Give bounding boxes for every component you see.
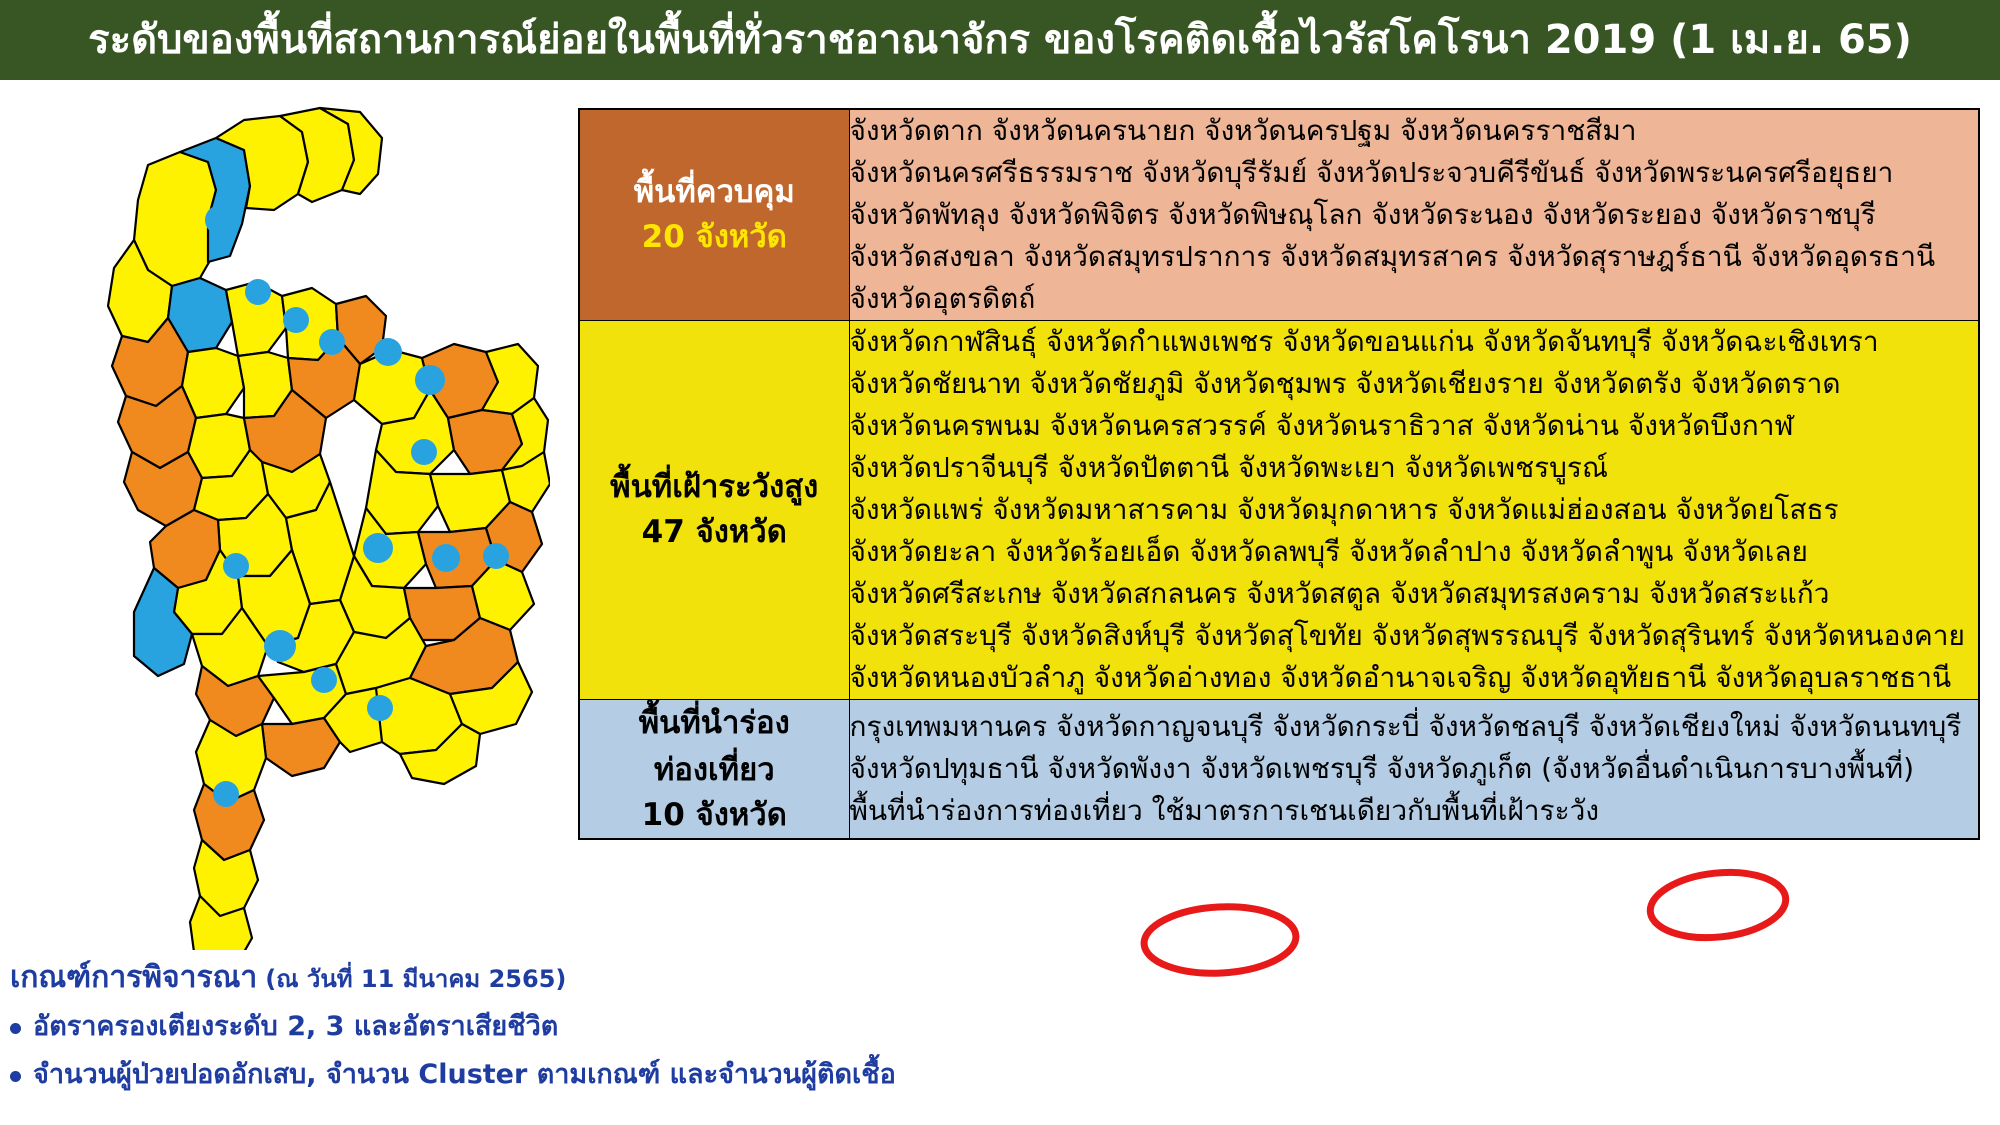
zone-count: 10 จังหวัด — [580, 793, 849, 838]
tourism-marker — [432, 544, 460, 572]
zone-label-cell-surveillance: พื้นที่เฝ้าระวังสูง 47 จังหวัด — [579, 321, 849, 700]
criteria-heading: เกณฑ์การพิจารณา (ณ วันที่ 11 มีนาคม 2565… — [10, 960, 970, 996]
province-line: จังหวัดศรีสะเกษ จังหวัดสกลนคร จังหวัดสตู… — [850, 573, 1979, 615]
criteria-item-label: อัตราครองเตียงระดับ 2, 3 และอัตราเสียชีว… — [33, 1010, 558, 1044]
criteria-block: เกณฑ์การพิจารณา (ณ วันที่ 11 มีนาคม 2565… — [10, 960, 970, 1106]
province-line: จังหวัดสงขลา จังหวัดสมุทรปราการ จังหวัดส… — [850, 236, 1979, 278]
criteria-heading-main: เกณฑ์การพิจารณา — [10, 960, 257, 996]
province-line: พื้นที่นำร่องการท่องเที่ยว ใช้มาตรการเชน… — [850, 790, 1979, 832]
province-line: จังหวัดอุตรดิตถ์ — [850, 278, 1979, 320]
zone-count: 20 จังหวัด — [580, 215, 849, 260]
zone-title-line1: พื้นที่นำร่อง — [580, 700, 849, 747]
tourism-marker — [367, 695, 393, 721]
bullet-icon — [10, 1071, 21, 1082]
province-line: จังหวัดปราจีนบุรี จังหวัดปัตตานี จังหวัด… — [850, 447, 1979, 489]
zone-province-list-tourism: กรุงเทพมหานคร จังหวัดกาญจนบุรี จังหวัดกร… — [849, 700, 1979, 839]
map-svg — [30, 90, 550, 950]
zone-label-cell-tourism: พื้นที่นำร่อง ท่องเที่ยว 10 จังหวัด — [579, 700, 849, 839]
tourism-marker — [311, 667, 337, 693]
phetchaburi-highlight-ellipse — [1142, 903, 1297, 977]
province-line: จังหวัดพัทลุง จังหวัดพิจิตร จังหวัดพิษณุ… — [850, 194, 1979, 236]
province-shape — [262, 718, 340, 776]
page-title: ระดับของพื้นที่สถานการณ์ย่อยในพื้นที่ทั่… — [88, 20, 1912, 60]
tourism-marker — [264, 630, 296, 662]
province-line: จังหวัดนครพนม จังหวัดนครสวรรค์ จังหวัดนร… — [850, 405, 1979, 447]
bullet-icon — [10, 1023, 21, 1034]
province-line: จังหวัดนครศรีธรรมราช จังหวัดบุรีรัมย์ จั… — [850, 152, 1979, 194]
zone-title-line2: ท่องเที่ยว — [580, 747, 849, 794]
zone-label-cell-control: พื้นที่ควบคุม 20 จังหวัด — [579, 109, 849, 321]
province-line: จังหวัดชัยนาท จังหวัดชัยภูมิ จังหวัดชุมพ… — [850, 363, 1979, 405]
criteria-list: อัตราครองเตียงระดับ 2, 3 และอัตราเสียชีว… — [10, 1010, 970, 1092]
left-panel: เกณฑ์การพิจารณา (ณ วันที่ 11 มีนาคม 2565… — [0, 80, 580, 1125]
tourism-marker — [319, 329, 345, 355]
table-row: พื้นที่ควบคุม 20 จังหวัด จังหวัดตาก จังห… — [579, 109, 1979, 321]
chiangmai-highlight-ellipse — [1647, 866, 1789, 944]
thailand-zone-map — [30, 90, 550, 950]
list-item: อัตราครองเตียงระดับ 2, 3 และอัตราเสียชีว… — [10, 1010, 970, 1044]
tourism-marker — [483, 543, 509, 569]
province-line: จังหวัดแพร่ จังหวัดมหาสารคาม จังหวัดมุกด… — [850, 489, 1979, 531]
tourism-marker — [223, 553, 249, 579]
tourism-marker — [363, 533, 393, 563]
tourism-marker — [374, 338, 402, 366]
tourism-marker — [411, 439, 437, 465]
zone-title: พื้นที่เฝ้าระวังสูง — [580, 465, 849, 510]
tourism-marker — [213, 781, 239, 807]
zone-province-list-surveillance: จังหวัดกาฬสินธุ์ จังหวัดกำแพงเพชร จังหวั… — [849, 321, 1979, 700]
zone-count: 47 จังหวัด — [580, 510, 849, 555]
province-line: จังหวัดตาก จังหวัดนครนายก จังหวัดนครปฐม … — [850, 110, 1979, 152]
province-line: จังหวัดกาฬสินธุ์ จังหวัดกำแพงเพชร จังหวั… — [850, 321, 1979, 363]
tourism-marker — [245, 279, 271, 305]
table-row: พื้นที่เฝ้าระวังสูง 47 จังหวัด จังหวัดกา… — [579, 321, 1979, 700]
infographic-page: ระดับของพื้นที่สถานการณ์ย่อยในพื้นที่ทั่… — [0, 0, 2000, 1125]
zone-province-list-control: จังหวัดตาก จังหวัดนครนายก จังหวัดนครปฐม … — [849, 109, 1979, 321]
tourism-marker — [205, 205, 235, 235]
province-line: จังหวัดสระบุรี จังหวัดสิงห์บุรี จังหวัดส… — [850, 615, 1979, 657]
zone-title: พื้นที่ควบคุม — [580, 170, 849, 215]
criteria-heading-date: (ณ วันที่ 11 มีนาคม 2565) — [265, 965, 566, 994]
list-item: จำนวนผู้ป่วยปอดอักเสบ, จำนวน Cluster ตาม… — [10, 1058, 970, 1092]
tourism-marker — [415, 365, 445, 395]
province-line: จังหวัดยะลา จังหวัดร้อยเอ็ด จังหวัดลพบุร… — [850, 531, 1979, 573]
tourism-marker — [283, 307, 309, 333]
header-banner: ระดับของพื้นที่สถานการณ์ย่อยในพื้นที่ทั่… — [0, 0, 2000, 80]
province-line: จังหวัดหนองบัวลำภู จังหวัดอ่างทอง จังหวั… — [850, 657, 1979, 699]
province-line: กรุงเทพมหานคร จังหวัดกาญจนบุรี จังหวัดกร… — [850, 706, 1979, 748]
province-line: จังหวัดปทุมธานี จังหวัดพังงา จังหวัดเพชร… — [850, 748, 1979, 790]
criteria-item-label: จำนวนผู้ป่วยปอดอักเสบ, จำนวน Cluster ตาม… — [33, 1058, 896, 1092]
zone-classification-table: พื้นที่ควบคุม 20 จังหวัด จังหวัดตาก จังห… — [578, 108, 1980, 840]
table-row: พื้นที่นำร่อง ท่องเที่ยว 10 จังหวัด กรุง… — [579, 700, 1979, 839]
